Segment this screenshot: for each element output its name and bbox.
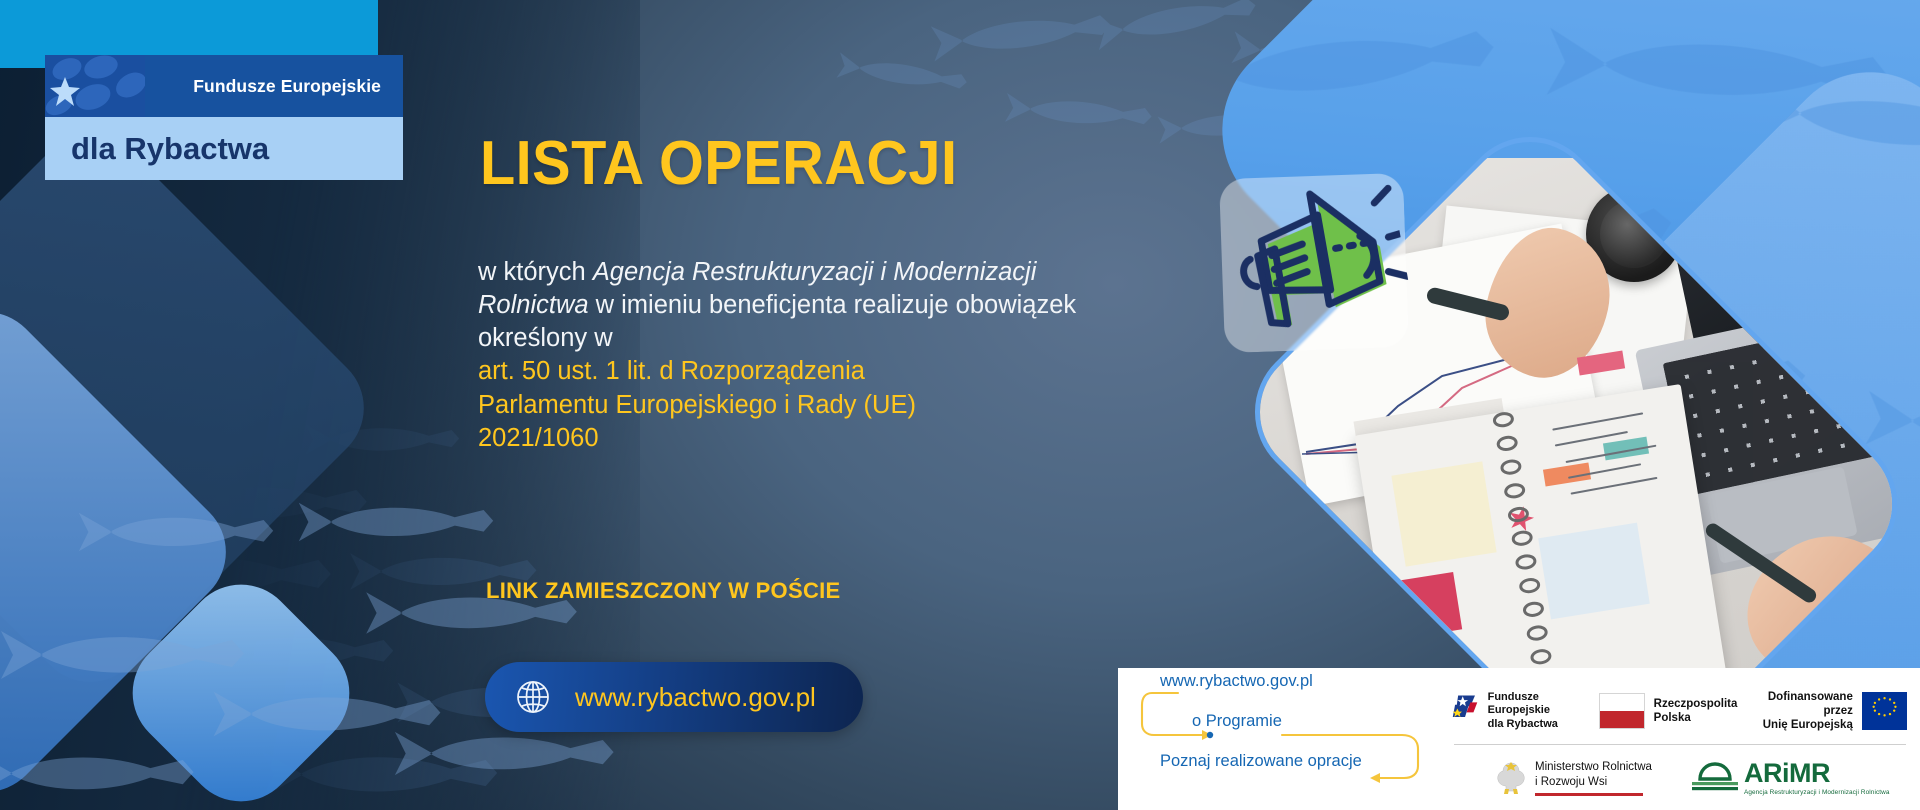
legal-line-3: 2021/1060 bbox=[478, 424, 599, 452]
eu-line2: Unię Europejską bbox=[1761, 718, 1852, 732]
arimr-wordmark: ARiMR bbox=[1744, 760, 1890, 787]
legal-line-1: art. 50 ust. 1 lit. d Rozporządzenia bbox=[478, 357, 865, 385]
website-url-label: www.rybactwo.gov.pl bbox=[575, 682, 816, 713]
footer-bar: www.rybactwo.gov.pl o Programie Poznaj r… bbox=[1118, 668, 1920, 810]
rp-line1: Rzeczpospolita bbox=[1654, 697, 1738, 711]
navigation-flow-diagram bbox=[1134, 680, 1434, 798]
ministry-logo-row: Ministerstwo Rolnictwa i Rozwoju Wsi ARi… bbox=[1494, 752, 1914, 804]
body-paragraph: w których Agencja Restrukturyzacji i Mod… bbox=[478, 256, 1098, 455]
body-seg-1: w których bbox=[478, 258, 593, 286]
flow-step-2[interactable]: o Programie bbox=[1192, 712, 1282, 731]
arimr-tagline: Agencja Restrukturyzacji i Modernizacji … bbox=[1744, 789, 1890, 796]
mrirw-line2: i Rozwoju Wsi bbox=[1535, 775, 1652, 789]
website-url-button[interactable]: www.rybactwo.gov.pl bbox=[485, 662, 863, 732]
flow-step-1[interactable]: www.rybactwo.gov.pl bbox=[1160, 672, 1313, 691]
globe-icon bbox=[513, 677, 553, 717]
rp-line2: Polska bbox=[1654, 711, 1738, 725]
footer-divider bbox=[1454, 744, 1906, 745]
arimr-mark-icon bbox=[1692, 761, 1738, 795]
arimr-logo: ARiMR Agencja Restrukturyzacji i Moderni… bbox=[1692, 760, 1890, 796]
legal-line-2: Parlamentu Europejskiego i Rady (UE) bbox=[478, 391, 916, 419]
page-title: LISTA OPERACJI bbox=[480, 128, 957, 199]
fe-logo-line2: dla Rybactwa bbox=[71, 131, 269, 167]
megaphone-icon bbox=[1216, 172, 1416, 356]
fe-small-line1: Fundusze Europejskie bbox=[1488, 691, 1577, 718]
fe-small-mark-icon bbox=[1452, 694, 1480, 728]
fe-logo-line1: Fundusze Europejskie bbox=[193, 76, 381, 97]
ministerstwo-rolnictwa-logo: Ministerstwo Rolnictwa i Rozwoju Wsi bbox=[1494, 759, 1652, 797]
polish-eagle-icon bbox=[1494, 759, 1528, 797]
fundusze-europejskie-logo: Fundusze Europejskie dla Rybactwa bbox=[45, 55, 403, 180]
mrirw-red-rule bbox=[1535, 793, 1643, 796]
poland-flag-icon bbox=[1599, 693, 1645, 729]
eu-logo-row: Fundusze Europejskie dla Rybactwa Rzeczp… bbox=[1452, 682, 1907, 740]
promo-banner: Fundusze Europejskie dla Rybactwa LISTA … bbox=[0, 0, 1920, 810]
link-note: LINK ZAMIESZCZONY W POŚCIE bbox=[486, 578, 841, 604]
eu-line1: Dofinansowane przez bbox=[1761, 690, 1852, 718]
flow-step-3[interactable]: Poznaj realizowane opracje bbox=[1160, 752, 1362, 771]
fundusze-europejskie-small-logo: Fundusze Europejskie dla Rybactwa bbox=[1452, 691, 1577, 731]
fe-logo-mark bbox=[45, 55, 145, 117]
eu-flag-icon bbox=[1862, 692, 1907, 730]
mrirw-line1: Ministerstwo Rolnictwa bbox=[1535, 760, 1652, 774]
fe-small-line2: dla Rybactwa bbox=[1488, 718, 1577, 731]
